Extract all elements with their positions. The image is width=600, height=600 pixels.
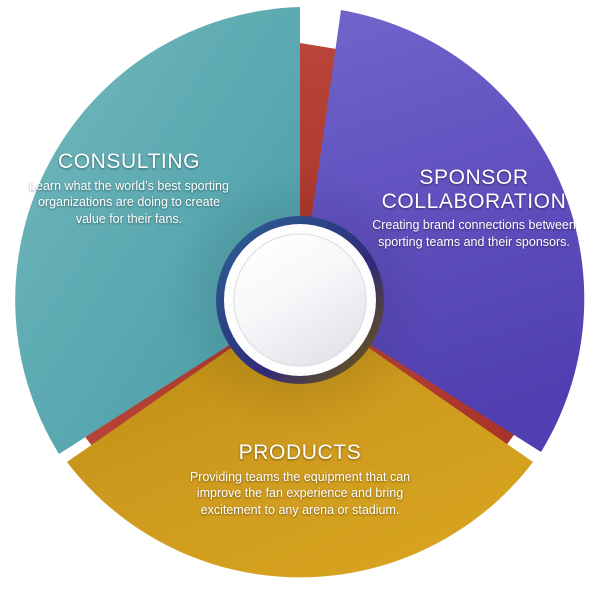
center-hub[interactable] [216,216,384,384]
services-circle-diagram: CONSULTING Learn what the world’s best s… [0,0,600,600]
wheel-svg [0,0,600,600]
hub-face [234,234,366,366]
